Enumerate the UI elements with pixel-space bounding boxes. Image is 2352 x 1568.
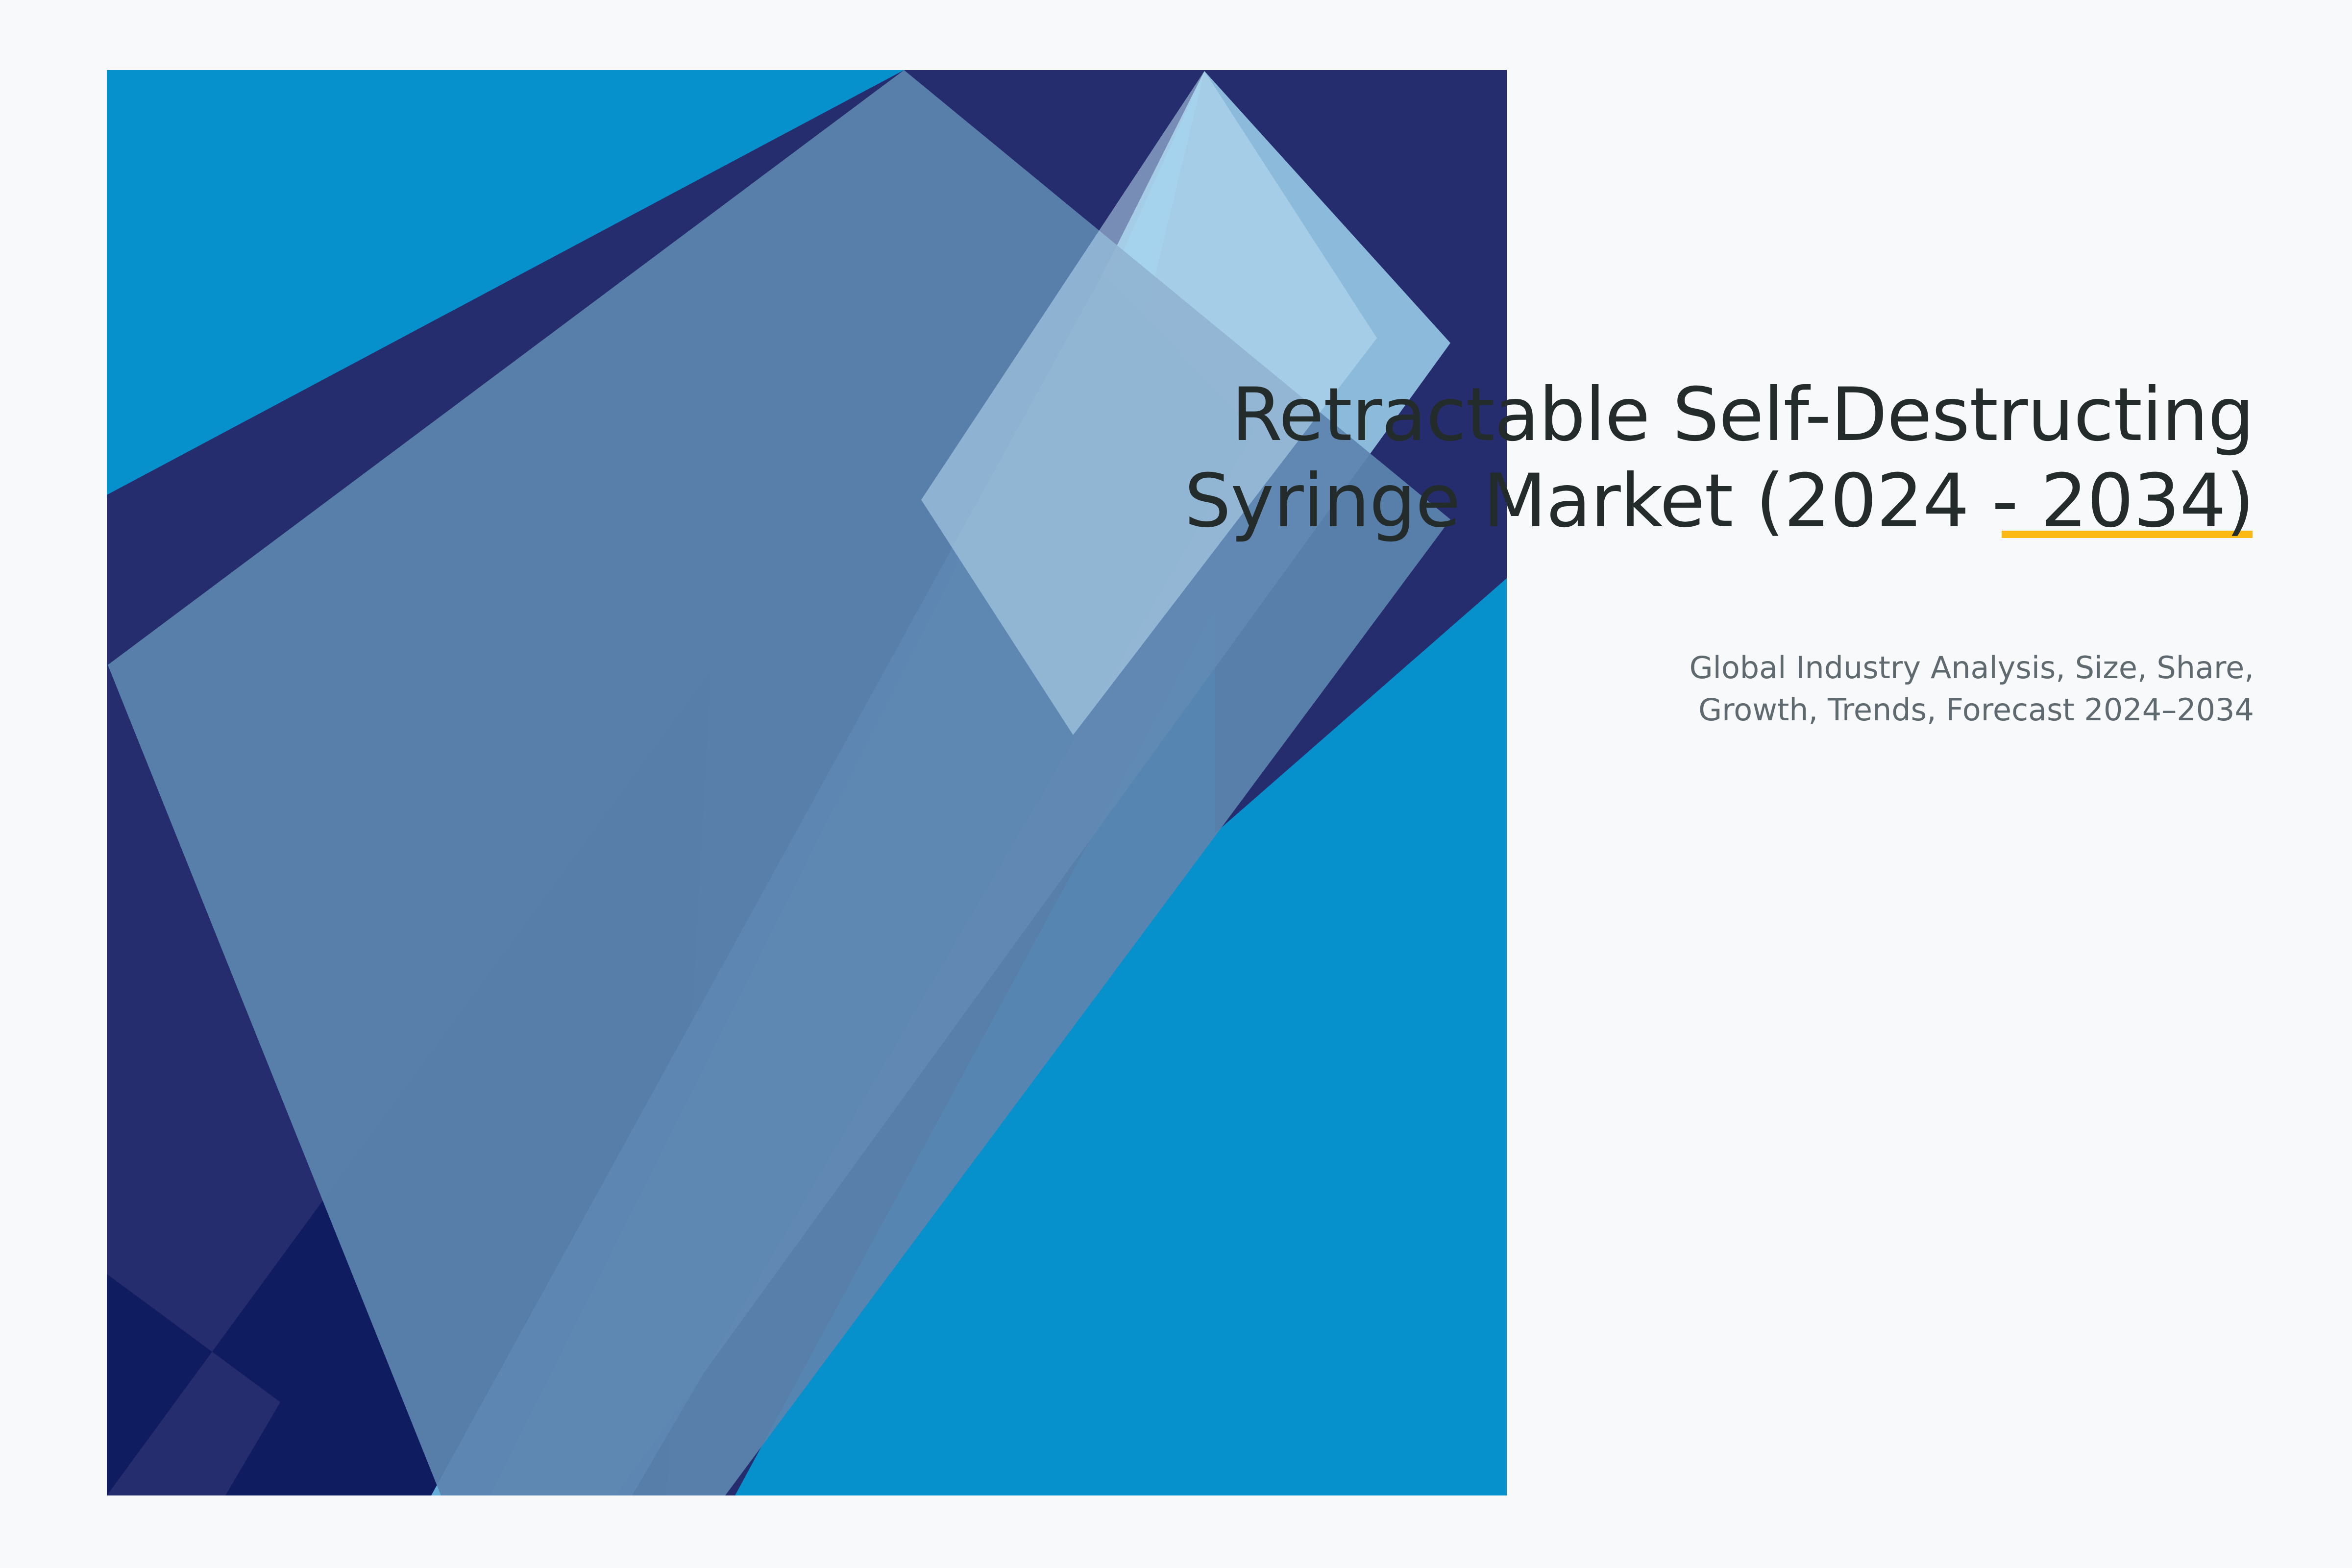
title-block: Retractable Self-Destructing Syringe Mar… <box>1127 372 2254 544</box>
page-subtitle: Global Industry Analysis, Size, Share, G… <box>1519 647 2254 731</box>
abstract-geometric-artwork <box>0 0 2352 1568</box>
page-title: Retractable Self-Destructing Syringe Mar… <box>1127 372 2254 544</box>
cover-page: Retractable Self-Destructing Syringe Mar… <box>0 0 2352 1568</box>
